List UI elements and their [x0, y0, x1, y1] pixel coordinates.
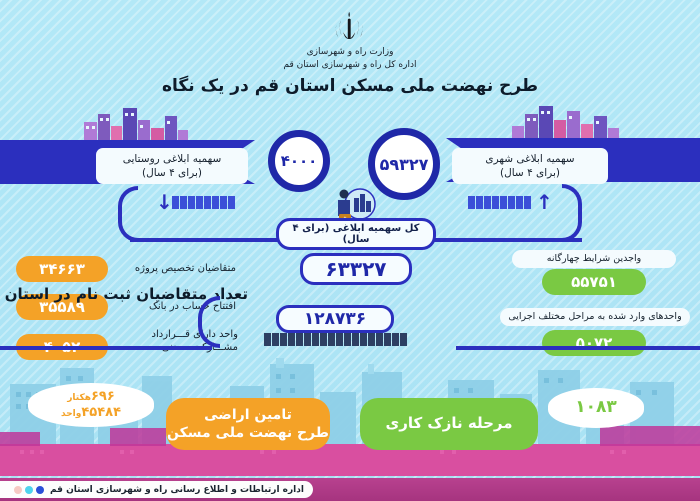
down-arrow-icon: ↓	[156, 192, 173, 212]
stat-label-executive-stages: واحدهای وارد شده به مراحل مختلف اجرایی	[500, 308, 690, 326]
total-quota-block: کل سهمیه ابلاغی (برای ۴ سال) ۶۳۳۲۷	[276, 218, 436, 285]
stat-value-project-allocation: ۳۴۶۶۳	[16, 256, 108, 282]
urban-connector-line	[432, 238, 582, 242]
urban-quota-label-line2: (برای ۴ سال)	[458, 166, 602, 180]
stat-label-project-allocation: متقاضیان تخصیص پروژه	[116, 262, 236, 275]
stat-value-qualified: ۵۵۷۵۱	[542, 269, 646, 295]
land-supply-button[interactable]: تامین اراضی طرح نهضت ملی مسکن	[166, 398, 330, 450]
total-quota-value: ۶۳۳۲۷	[300, 253, 412, 285]
land-supply-line1: تامین اراضی	[167, 406, 329, 424]
dot-cyan-icon	[25, 486, 33, 494]
people-group-icon-center	[264, 333, 407, 346]
land-hectare-unit: هکتار	[67, 393, 91, 403]
finishing-stage-button[interactable]: مرحله نازک کاری	[360, 398, 538, 450]
people-group-icon-left	[172, 196, 235, 209]
stat-value-executive-stages: ۵۰۷۲	[542, 330, 646, 356]
iran-emblem-icon	[333, 8, 367, 48]
rural-quota-label: سهمیه ابلاغی روستایی (برای ۴ سال)	[96, 148, 248, 184]
dot-pink-icon	[14, 486, 22, 494]
land-unit-label: واحد	[61, 409, 81, 419]
footer-text: اداره ارتباطات و اطلاع رسانی راه و شهرسا…	[50, 485, 304, 495]
land-supply-bubble: ۶۹۶هکتار ۴۵۴۸۴واحد	[28, 383, 154, 427]
people-group-icon-right	[468, 196, 531, 209]
ministry-line-1: وزارت راه و شهرسازی	[0, 46, 700, 59]
rural-quota-label-line1: سهمیه ابلاغی روستایی	[102, 152, 242, 166]
urban-connector	[562, 184, 582, 242]
ministry-line-2: اداره کل راه و شهرسازی استان قم	[0, 59, 700, 72]
land-unit-value: ۴۵۴۸۴	[81, 405, 121, 420]
finishing-stage-bubble: ۱۰۸۳	[548, 388, 644, 428]
urban-quota-value: ۵۹۳۲۷	[368, 128, 440, 200]
registration-value: ۱۲۸۷۳۶	[276, 305, 394, 333]
stat-label-qualified: واجدین شرایط چهارگانه	[512, 250, 676, 268]
land-supply-line2: طرح نهضت ملی مسکن	[167, 424, 329, 442]
rural-connector	[118, 186, 138, 242]
total-quota-caption: کل سهمیه ابلاغی (برای ۴ سال)	[276, 218, 436, 250]
footer-dots	[14, 486, 44, 494]
infographic-canvas: وزارت راه و شهرسازی اداره کل راه و شهرسا…	[0, 0, 700, 501]
dot-blue-icon	[36, 486, 44, 494]
registration-line-right	[456, 346, 700, 350]
up-arrow-icon: ↑	[536, 192, 553, 212]
land-hectare-value: ۶۹۶	[91, 389, 115, 404]
footer-bar: اداره ارتباطات و اطلاع رسانی راه و شهرسا…	[0, 478, 700, 501]
rural-quota-value: ۴۰۰۰	[268, 130, 330, 192]
urban-quota-label: سهمیه ابلاغی شهری (برای ۴ سال)	[452, 148, 608, 184]
footer-plate: اداره ارتباطات و اطلاع رسانی راه و شهرسا…	[0, 481, 313, 498]
registration-line-left	[0, 346, 212, 350]
urban-quota-label-line1: سهمیه ابلاغی شهری	[458, 152, 602, 166]
page-title: طرح نهضت ملی مسکن استان قم در یک نگاه	[0, 76, 700, 96]
rural-connector-line	[130, 238, 280, 242]
ministry-name: وزارت راه و شهرسازی اداره کل راه و شهرسا…	[0, 46, 700, 72]
rural-quota-label-line2: (برای ۴ سال)	[102, 166, 242, 180]
